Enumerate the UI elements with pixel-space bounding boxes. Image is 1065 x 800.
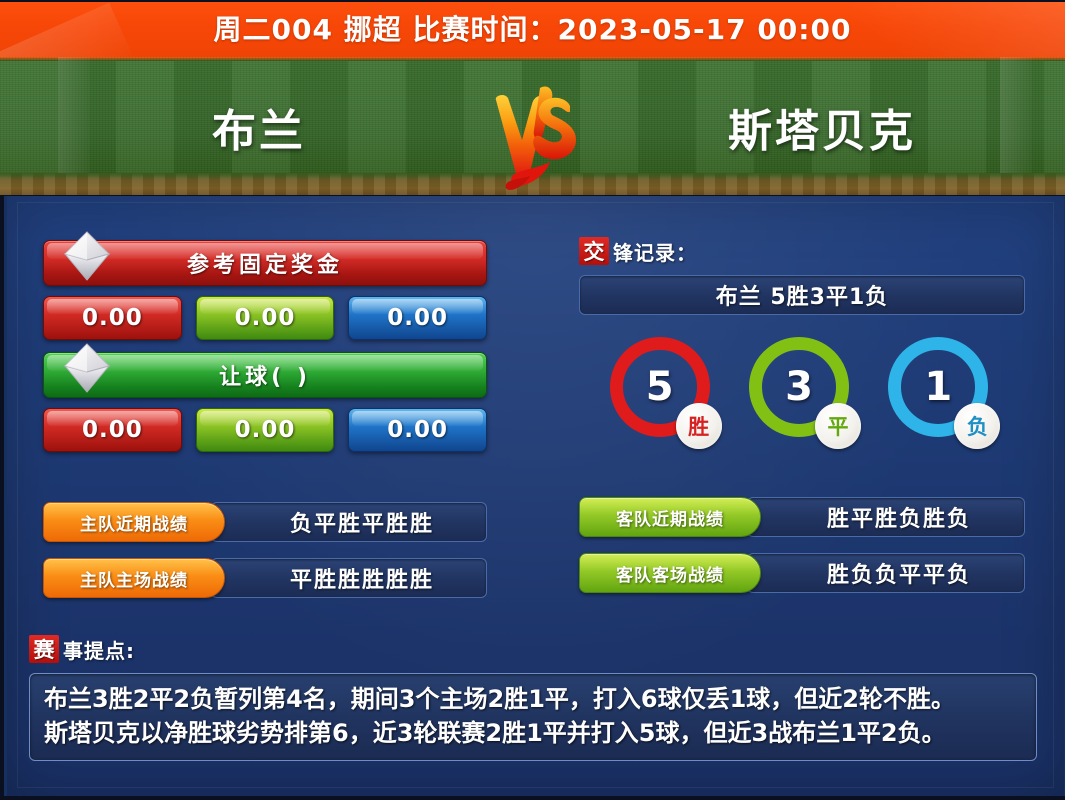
h2h-column: 交 锋记录： 布兰 5胜3平1负 5 胜 3 平	[579, 236, 1025, 609]
stats-panel: 参考固定奖金 0.00 0.00 0.00	[4, 196, 1065, 796]
away-recent-form-row: 客队近期战绩 胜平胜负胜负	[579, 497, 1025, 537]
away-away-form-value: 胜负负平平负	[747, 553, 1025, 593]
ring-value: 5	[646, 364, 674, 410]
odds-value: 0.00	[235, 305, 296, 331]
odds-box-win[interactable]: 0.00	[43, 296, 182, 340]
odds-value: 0.00	[82, 305, 143, 331]
odds-value: 0.00	[82, 417, 143, 443]
odds-value: 0.00	[235, 417, 296, 443]
away-recent-form-value: 胜平胜负胜负	[747, 497, 1025, 537]
fixed-bonus-header: 参考固定奖金	[43, 240, 487, 286]
ring-value: 3	[785, 364, 813, 410]
away-recent-form-tag: 客队近期战绩	[579, 497, 761, 537]
handicap-odds-row: 0.00 0.00 0.00	[43, 408, 487, 452]
away-away-form-tag: 客队客场战绩	[579, 553, 761, 593]
h2h-section-title: 交 锋记录：	[579, 236, 1025, 266]
diamond-icon	[62, 342, 112, 394]
tips-line: 斯塔贝克以净胜球劣势排第6，近3轮联赛2胜1平并打入5球，但近3战布兰1平2负。	[44, 716, 1022, 750]
h2h-summary: 布兰 5胜3平1负	[579, 275, 1025, 315]
odds-value: 0.00	[387, 417, 448, 443]
ring-label-badge: 平	[815, 403, 861, 449]
home-home-form-tag: 主队主场战绩	[43, 558, 225, 598]
tips-content-box: 布兰3胜2平2负暂列第4名，期间3个主场2胜1平，打入6球仅丢1球，但近2轮不胜…	[29, 673, 1037, 761]
away-team-name: 斯塔贝克	[728, 95, 916, 159]
h2h-rings: 5 胜 3 平 1 负	[579, 337, 1025, 467]
ring-label-badge: 负	[954, 403, 1000, 449]
home-team-name: 布兰	[212, 95, 306, 159]
odds-value: 0.00	[387, 305, 448, 331]
vs-icon	[474, 82, 592, 194]
odds-box-draw[interactable]: 0.00	[196, 296, 335, 340]
h2h-badge-icon: 交	[579, 237, 609, 265]
tips-line: 布兰3胜2平2负暂列第4名，期间3个主场2胜1平，打入6球仅丢1球，但近2轮不胜…	[44, 682, 1022, 716]
tips-title-text: 事提点:	[63, 635, 135, 664]
diamond-icon	[62, 230, 112, 282]
tips-badge-icon: 赛	[29, 635, 59, 663]
fixed-bonus-odds-row: 0.00 0.00 0.00	[43, 296, 487, 340]
h2h-ring-draw: 3 平	[749, 337, 855, 461]
h2h-ring-win: 5 胜	[610, 337, 716, 461]
h2h-title-text: 锋记录：	[613, 237, 697, 266]
h2h-ring-lose: 1 负	[888, 337, 994, 461]
handicap-box-draw[interactable]: 0.00	[196, 408, 335, 452]
home-recent-form-value: 负平胜平胜胜	[211, 502, 487, 542]
odds-box-lose[interactable]: 0.00	[348, 296, 487, 340]
ring-value: 1	[924, 364, 952, 410]
home-home-form-row: 主队主场战绩 平胜胜胜胜胜	[43, 558, 487, 598]
odds-column: 参考固定奖金 0.00 0.00 0.00	[43, 240, 487, 614]
away-away-form-row: 客队客场战绩 胜负负平平负	[579, 553, 1025, 593]
match-header-bar: 周二004 挪超 比赛时间：2023-05-17 00:00	[0, 2, 1065, 57]
tips-section-title: 赛 事提点:	[29, 634, 1037, 664]
match-tips-section: 赛 事提点: 布兰3胜2平2负暂列第4名，期间3个主场2胜1平，打入6球仅丢1球…	[29, 634, 1037, 761]
grass-stripe	[58, 57, 90, 175]
home-recent-form-tag: 主队近期战绩	[43, 502, 225, 542]
home-recent-form-row: 主队近期战绩 负平胜平胜胜	[43, 502, 487, 542]
handicap-box-win[interactable]: 0.00	[43, 408, 182, 452]
match-preview-card: 周二004 挪超 比赛时间：2023-05-17 00:00 布兰 斯塔贝克	[0, 0, 1065, 800]
match-header-title: 周二004 挪超 比赛时间：2023-05-17 00:00	[0, 2, 1065, 57]
ring-label-badge: 胜	[676, 403, 722, 449]
grass-stripe	[1000, 57, 1032, 175]
home-home-form-value: 平胜胜胜胜胜	[211, 558, 487, 598]
handicap-box-lose[interactable]: 0.00	[348, 408, 487, 452]
handicap-header: 让球( )	[43, 352, 487, 398]
